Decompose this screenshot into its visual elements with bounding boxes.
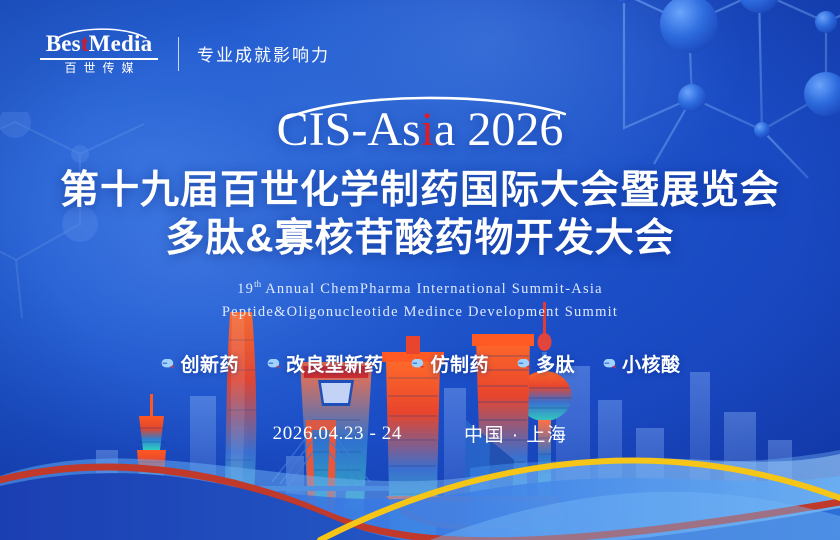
arc-swoosh-icon	[54, 26, 148, 40]
capsule-icon	[409, 356, 425, 372]
capsule-icon	[601, 356, 617, 372]
title-chinese-line2: 多肽&寡核苷酸药物开发大会	[0, 215, 840, 263]
title-chinese: 第十九届百世化学制药国际大会暨展览会 多肽&寡核苷酸药物开发大会	[0, 167, 840, 264]
topic-tag-label: 创新药	[180, 350, 239, 377]
title-english: 19th Annual ChemPharma International Sum…	[0, 277, 840, 325]
topic-tags: 创新药 改良型新药 仿制药 多肽	[0, 350, 840, 377]
header-tagline: 专业成就影响力	[197, 41, 330, 66]
title-chinese-line1: 第十九届百世化学制药国际大会暨展览会	[60, 169, 780, 212]
capsule-icon	[159, 356, 175, 372]
wave-band-right	[430, 492, 840, 540]
topic-tag[interactable]: 创新药	[159, 350, 239, 377]
wave-band-mid	[0, 476, 840, 540]
header: BestMedia 百世传媒 专业成就影响力	[40, 32, 330, 75]
event-date: 2026.04.23 - 24	[273, 423, 402, 445]
capsule-icon	[265, 356, 281, 372]
brand-logo[interactable]: BestMedia 百世传媒	[40, 32, 158, 75]
wave-accent-yellow	[320, 461, 840, 540]
topic-tag[interactable]: 改良型新药	[265, 350, 384, 377]
brand-text-i-accent: i	[421, 103, 434, 156]
logo-text-t-accent: t	[81, 32, 89, 55]
topic-tag[interactable]: 仿制药	[409, 350, 489, 377]
title-english-line1: 19th Annual ChemPharma International Sum…	[237, 281, 603, 297]
topic-tag-label: 多肽	[536, 350, 575, 377]
wave-accent-red	[0, 467, 840, 540]
jin-mao-tower	[131, 394, 172, 540]
title-english-line2: Peptide&Oligonucleotide Medince Developm…	[0, 301, 840, 324]
swfc-tower	[300, 362, 372, 538]
header-divider	[178, 37, 179, 71]
topic-tag-label: 改良型新药	[286, 350, 384, 377]
topic-tag[interactable]: 多肽	[515, 350, 575, 377]
hill-right	[470, 450, 840, 540]
topic-tag[interactable]: 小核酸	[601, 350, 681, 377]
event-location: 中国 · 上海	[464, 420, 567, 447]
capsule-icon	[515, 356, 531, 372]
event-meta: 2026.04.23 - 24 中国 · 上海	[0, 420, 840, 447]
topic-tag-label: 仿制药	[430, 350, 489, 377]
wave-band-bottom	[0, 473, 840, 540]
logo-text-cn: 百世传媒	[57, 62, 140, 75]
skyline-ghost-buildings	[96, 366, 792, 540]
conference-banner: BestMedia 百世传媒 专业成就影响力 CIS-Asia 2026 第十九…	[0, 0, 840, 540]
title-english-ordinal: 19	[237, 281, 254, 297]
logo-divider-rule	[40, 58, 158, 60]
title-english-line1-rest: Annual ChemPharma International Summit-A…	[261, 281, 603, 297]
topic-tag-label: 小核酸	[622, 350, 681, 377]
wave-band-top	[0, 454, 840, 540]
wave-ribbon-icon	[0, 380, 840, 540]
event-brand: CIS-Asia 2026	[277, 96, 564, 155]
title-block: CIS-Asia 2026 第十九届百世化学制药国际大会暨展览会 多肽&寡核苷酸…	[0, 96, 840, 324]
hill-left	[0, 493, 400, 540]
